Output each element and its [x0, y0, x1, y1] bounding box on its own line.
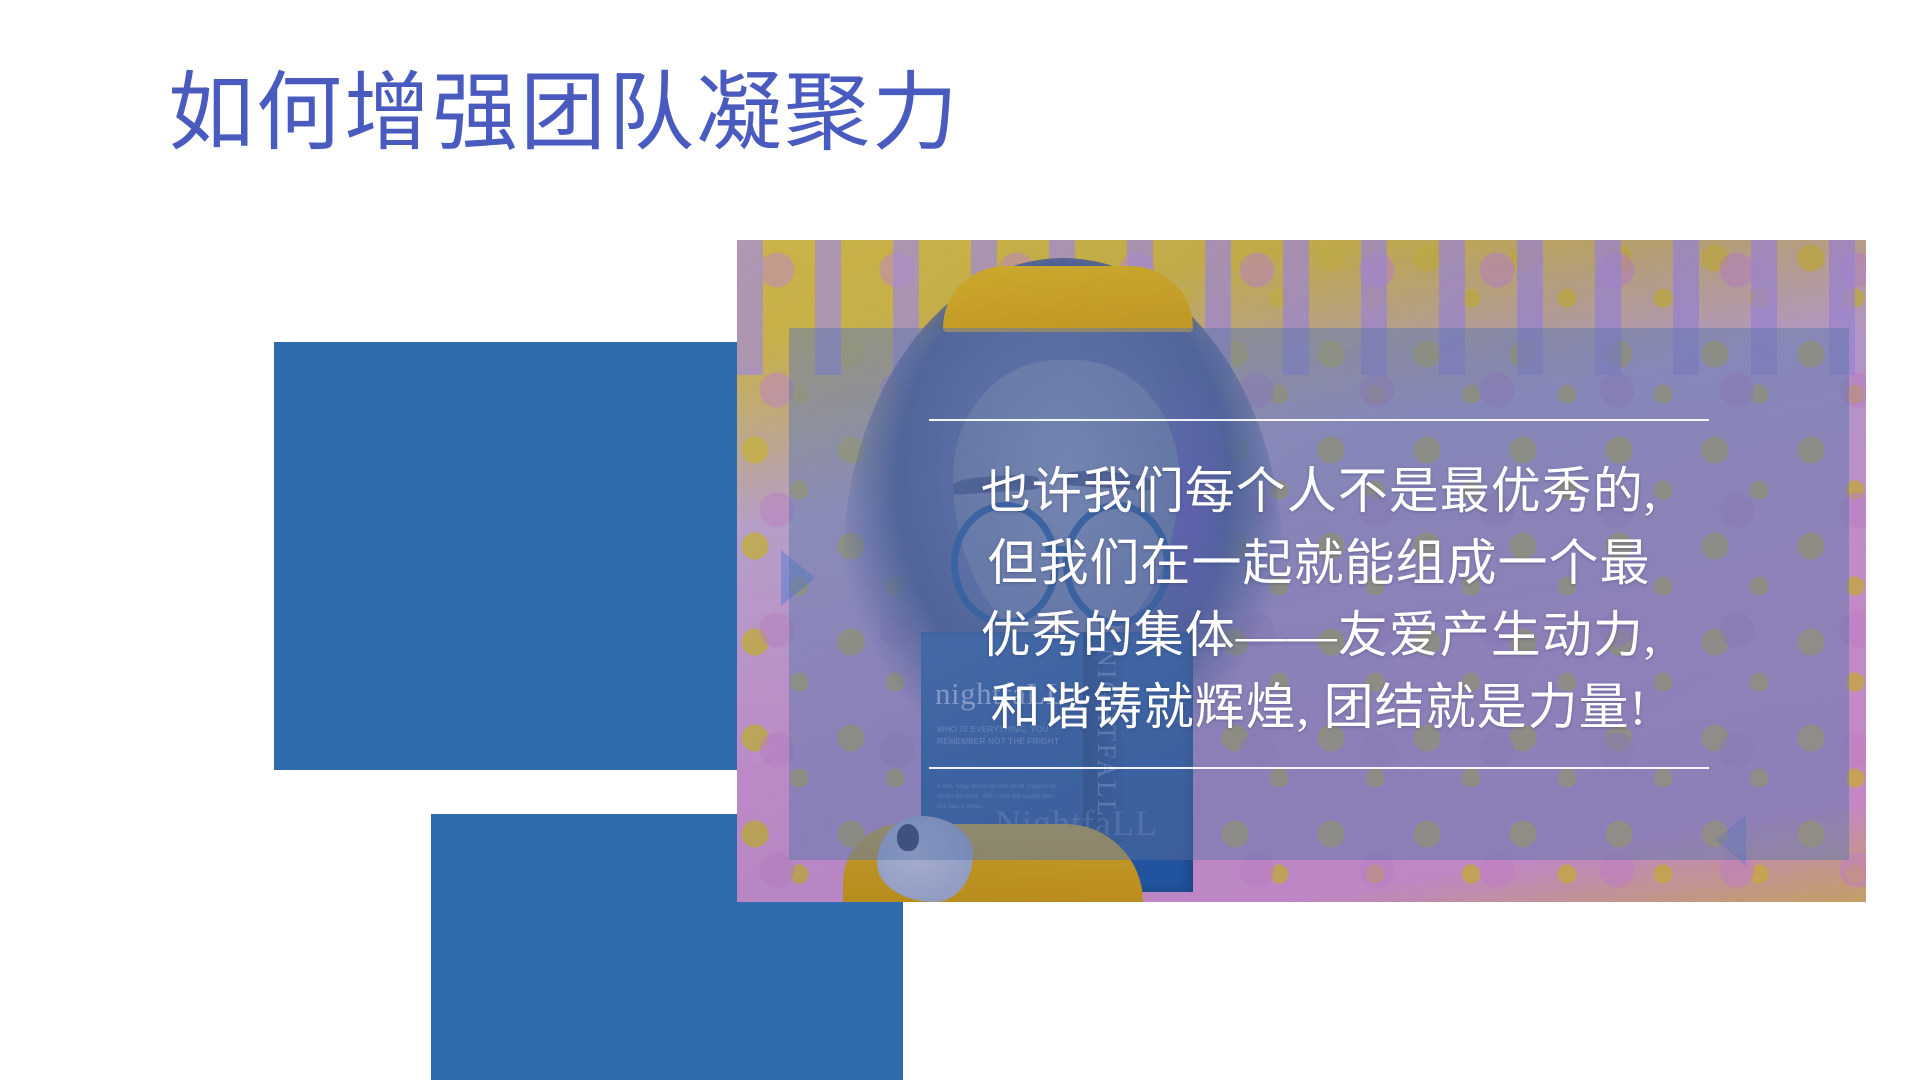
page-title: 如何增强团队凝聚力	[168, 68, 960, 159]
quote-line-3: 优秀的集体——友爱产生动力,	[981, 599, 1658, 671]
slide-canvas: 如何增强团队凝聚力 nightfaLL WHO IS EVERYTHING, Y…	[0, 0, 1920, 1080]
quote-overlay-panel[interactable]: 也许我们每个人不是最优秀的, 但我们在一起就能组成一个最 优秀的集体——友爱产生…	[789, 328, 1849, 860]
quote-rule-bottom	[929, 767, 1709, 769]
quote-rule-top	[929, 419, 1709, 421]
photo-panel[interactable]: nightfaLL WHO IS EVERYTHING, YOU REMEMBE…	[737, 240, 1866, 902]
quote-text-block: 也许我们每个人不是最优秀的, 但我们在一起就能组成一个最 优秀的集体——友爱产生…	[981, 455, 1658, 743]
quote-line-2: 但我们在一起就能组成一个最	[981, 527, 1658, 599]
picture-placeholder-top[interactable]	[274, 342, 746, 770]
quote-line-1: 也许我们每个人不是最优秀的,	[981, 455, 1658, 527]
quote-line-4: 和谐铸就辉煌, 团结就是力量!	[981, 671, 1658, 743]
